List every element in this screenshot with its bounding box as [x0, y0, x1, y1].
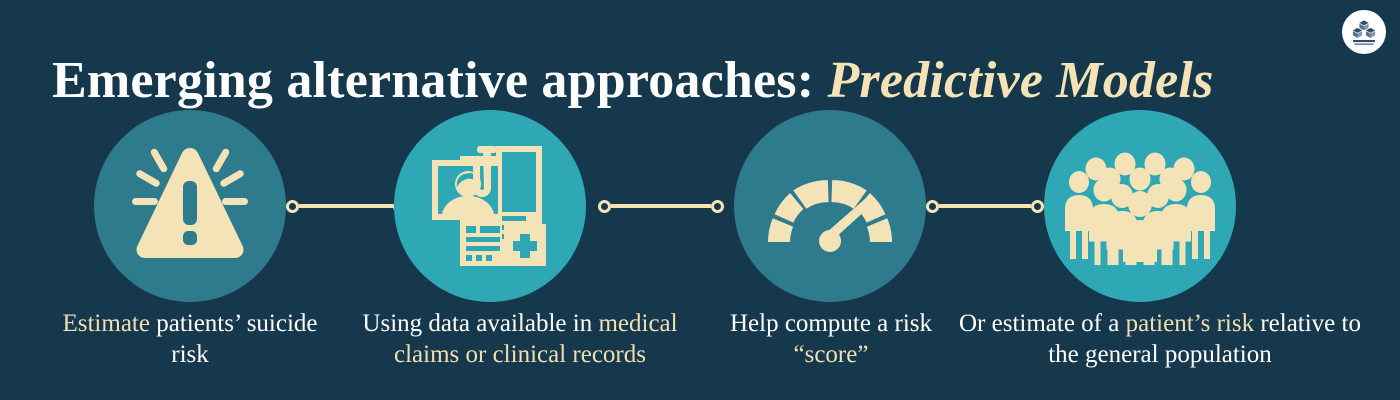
connector-bar [299, 204, 393, 208]
connector-ring-left [286, 200, 299, 213]
step-4-caption-part-0: Or estimate of a [959, 310, 1126, 337]
connector-2-3 [598, 198, 724, 214]
step-3-caption: Help compute a risk “score” [722, 308, 940, 370]
connector-1-2 [286, 198, 406, 214]
connector-ring-left [926, 200, 939, 213]
step-1-caption: Estimate patients’ suicide risk [60, 308, 320, 370]
connector-bar [939, 204, 1031, 208]
gauge-icon [760, 154, 900, 258]
crowd-of-people-icon [1065, 147, 1215, 265]
step-4-caption-part-1: patient’s risk [1126, 310, 1254, 337]
medical-records-icon [422, 138, 558, 274]
connector-ring-right [1031, 200, 1044, 213]
step-1-circle[interactable] [94, 110, 286, 302]
process-flow [0, 100, 1400, 312]
connector-bar [611, 204, 711, 208]
step-3-caption-part-1: “score” [794, 341, 869, 368]
step-1-caption-part-1: patients’ suicide risk [150, 310, 318, 368]
step-2-caption: Using data available in medical claims o… [332, 308, 708, 370]
step-2-caption-part-0: Using data available in [362, 310, 598, 337]
connector-3-4 [926, 198, 1044, 214]
step-3-circle[interactable] [734, 110, 926, 302]
dimensional-insight-logo [1342, 10, 1386, 54]
connector-ring-right [711, 200, 724, 213]
slide-canvas: Emerging alternative approaches: Predict… [0, 0, 1400, 400]
step-2-circle[interactable] [394, 110, 586, 302]
step-4-circle[interactable] [1044, 110, 1236, 302]
step-3-caption-part-0: Help compute a risk [730, 310, 932, 337]
warning-triangle-icon [115, 142, 265, 270]
step-1-caption-part-0: Estimate [62, 310, 149, 337]
connector-ring-left [598, 200, 611, 213]
step-4-caption: Or estimate of a patient’s risk relative… [955, 308, 1365, 370]
